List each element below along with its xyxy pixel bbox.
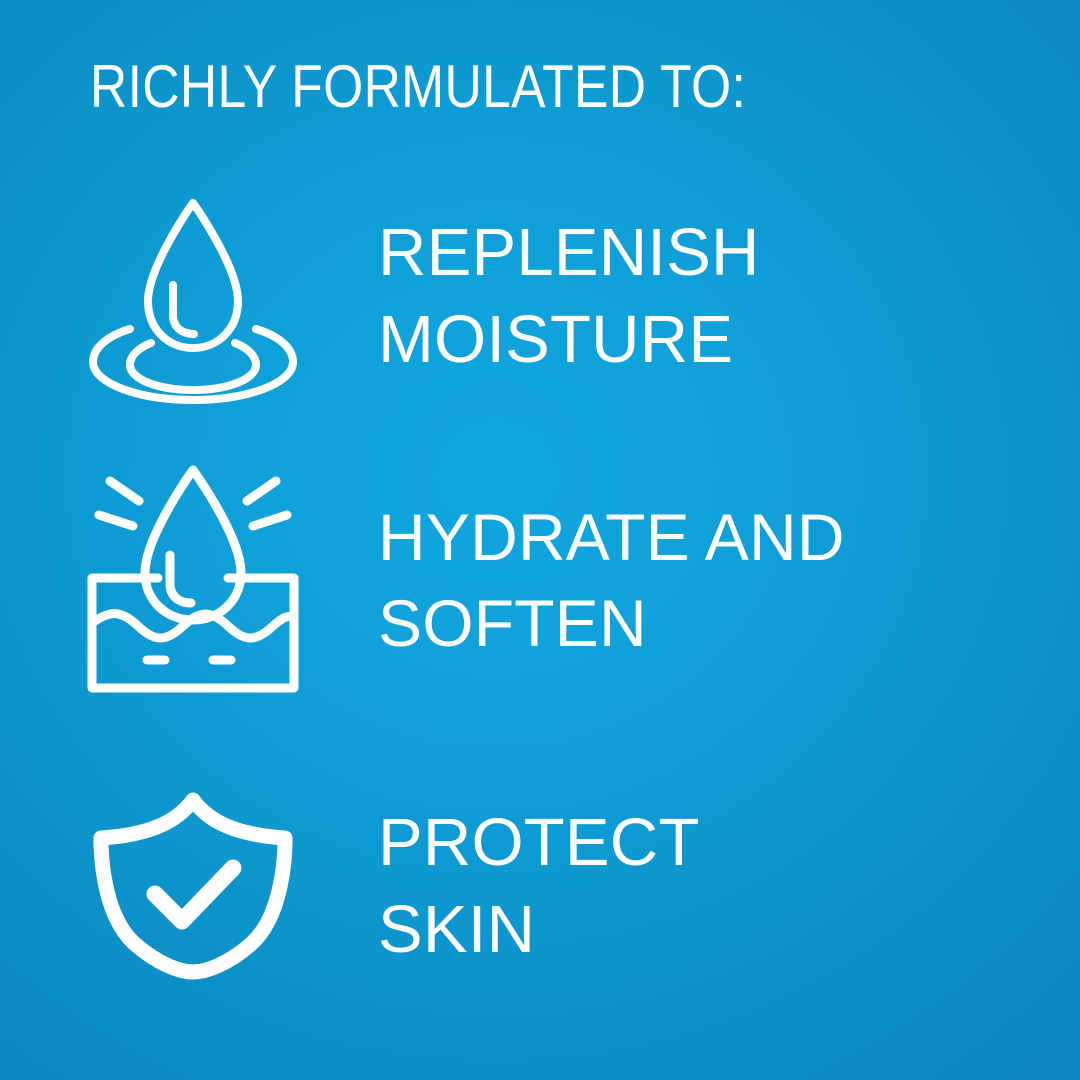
benefit-label-line-1: HYDRATE AND — [378, 495, 1080, 581]
page-title: RICHLY FORMULATED TO: — [90, 57, 746, 117]
benefit-label: PROTECT SKIN — [378, 797, 1080, 973]
shield-checkmark-icon — [87, 790, 299, 980]
benefit-icon-cell — [0, 790, 378, 980]
benefit-icon-cell — [0, 193, 378, 398]
benefit-label: HYDRATE AND SOFTEN — [378, 493, 1080, 667]
benefit-row-replenish-moisture: REPLENISH MOISTURE — [0, 190, 1080, 400]
benefit-label-line-2: SKIN — [378, 886, 1080, 973]
benefit-label-line-2: SOFTEN — [378, 581, 1080, 667]
benefit-row-protect-skin: PROTECT SKIN — [0, 785, 1080, 985]
benefit-label: REPLENISH MOISTURE — [378, 207, 1080, 383]
benefits-poster: RICHLY FORMULATED TO: REPLENISH MOISTURE — [0, 0, 1080, 1080]
water-droplet-ripples-icon — [78, 193, 308, 398]
benefit-icon-cell — [0, 460, 378, 700]
benefit-label-line-1: REPLENISH — [378, 209, 1080, 296]
benefit-label-line-2: MOISTURE — [378, 296, 1080, 383]
benefit-row-hydrate-soften: HYDRATE AND SOFTEN — [0, 455, 1080, 705]
droplet-absorbing-into-skin-icon — [77, 460, 309, 700]
benefit-label-line-1: PROTECT — [378, 799, 1080, 886]
